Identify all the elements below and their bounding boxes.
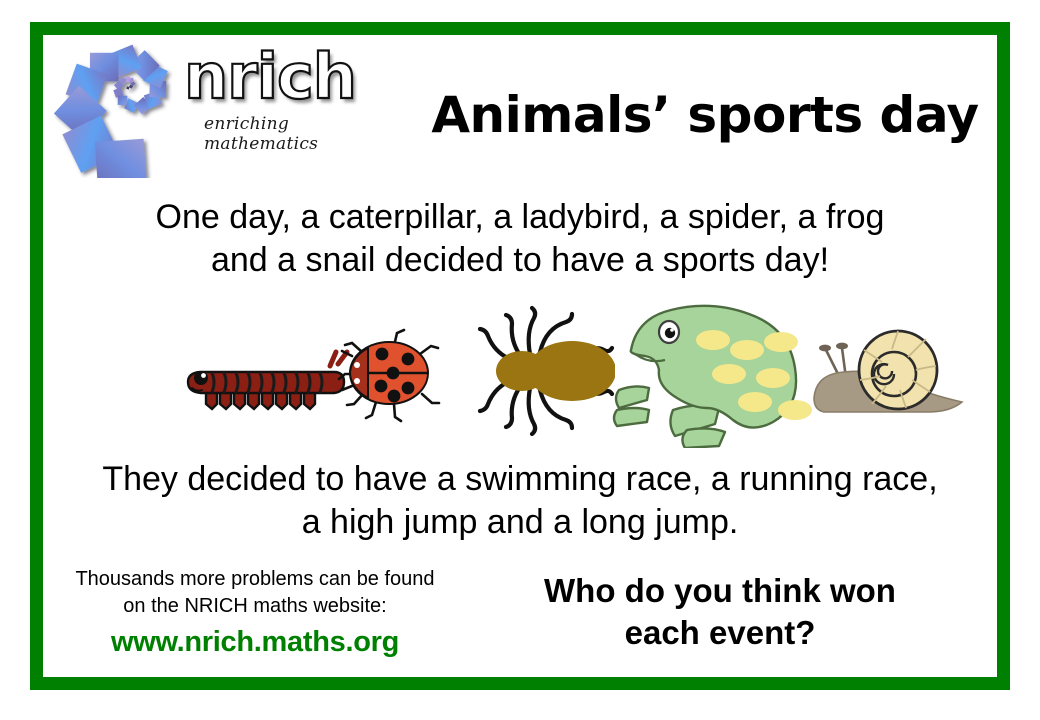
nrich-logo[interactable]: nrich enriching mathematics xyxy=(52,28,392,178)
events-line-2: a high jump and a long jump. xyxy=(55,501,985,544)
animals-illustration-row xyxy=(60,298,980,448)
spider-icon xyxy=(460,300,615,445)
events-paragraph: They decided to have a swimming race, a … xyxy=(55,458,985,543)
intro-line-2: and a snail decided to have a sports day… xyxy=(70,239,970,282)
page-title: Animals’ sports day xyxy=(415,86,995,144)
nrich-website-link[interactable]: www.nrich.maths.org xyxy=(60,626,450,659)
ladybird-icon xyxy=(332,316,452,431)
question-line-2: each event? xyxy=(480,612,960,654)
question-line-1: Who do you think won xyxy=(480,570,960,612)
poster-canvas: nrich enriching mathematics Animals’ spo… xyxy=(0,0,1040,720)
intro-paragraph: One day, a caterpillar, a ladybird, a sp… xyxy=(70,196,970,281)
nrich-wordmark: nrich xyxy=(184,46,356,108)
frog-icon xyxy=(595,298,825,448)
snail-icon xyxy=(802,322,982,437)
footer-line-2: on the NRICH maths website: xyxy=(60,593,450,620)
prompt-question: Who do you think won each event? xyxy=(480,570,960,654)
nrich-tagline: enriching mathematics xyxy=(204,114,392,154)
intro-line-1: One day, a caterpillar, a ladybird, a sp… xyxy=(70,196,970,239)
footer-line-1: Thousands more problems can be found xyxy=(60,566,450,593)
footer-credit: Thousands more problems can be found on … xyxy=(60,566,450,659)
events-line-1: They decided to have a swimming race, a … xyxy=(55,458,985,501)
